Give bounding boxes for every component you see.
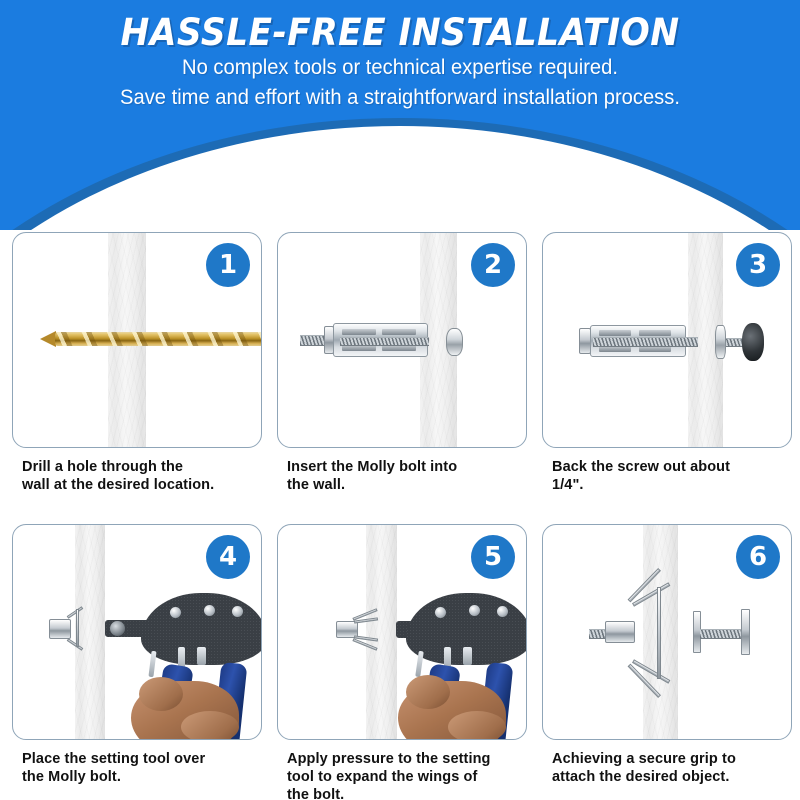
step-illustration-5: 5 [277,524,527,740]
page-title: HASSLE-FREE INSTALLATION [28,12,772,54]
molly-bolt-wing-edge [657,587,661,679]
step-illustration-3: 3 [542,232,792,448]
molly-bolt-slot [639,330,671,336]
step-caption-3: Back the screw out about 1/4". [542,458,794,494]
header-subtitle-line-2: Save time and effort with a straightforw… [16,86,784,110]
step-card-4: 4 [12,524,264,786]
step-card-3: 3 Back the screw out about 1/4". [542,232,794,494]
screw-head [741,609,750,655]
molly-bolt-thread-tail [300,335,326,346]
setting-tool-jaw [148,651,156,677]
setting-tool-pivot [110,621,125,636]
molly-bolt-collar [49,619,71,639]
step-illustration-4: 4 [12,524,262,740]
screw-washer [715,325,726,359]
steps-grid: 1 Drill a hole through the wall at the d… [0,228,800,800]
step-caption-5: Apply pressure to the setting tool to ex… [277,750,529,800]
step-caption-1: Drill a hole through the wall at the des… [12,458,264,494]
hand-finger [448,711,506,740]
molly-bolt-wing [76,609,79,647]
molly-bolt-slot [342,329,376,335]
setting-tool-rivet [469,605,480,616]
step-illustration-2: 2 [277,232,527,448]
step-card-2: 2 Insert the Molly bolt into the wall. [277,232,529,494]
hand-finger [181,711,239,740]
step-badge-3: 3 [736,243,780,287]
step-badge-4: 4 [206,535,250,579]
drill-bit-flute [55,332,262,346]
installation-guide-page: HASSLE-FREE INSTALLATION No complex tool… [0,0,800,800]
setting-tool-rivet [435,607,446,618]
screw-head [446,328,463,356]
setting-tool-rivet [497,606,508,617]
drill-bit-tip-icon [40,331,56,347]
molly-bolt-screw-shaft [593,337,698,347]
setting-tool-rivet [232,606,243,617]
setting-tool-rivet [170,607,181,618]
drywall-slab [75,524,105,740]
drywall-slab [366,524,397,740]
header-banner: HASSLE-FREE INSTALLATION No complex tool… [0,0,800,230]
step-caption-6: Achieving a secure grip to attach the de… [542,750,794,786]
setting-tool-rivet [204,605,215,616]
step-badge-2: 2 [471,243,515,287]
step-badge-6: 6 [736,535,780,579]
molly-bolt-collar [605,621,635,643]
header-subtitle-line-1: No complex tools or technical expertise … [16,56,784,80]
step-card-1: 1 Drill a hole through the wall at the d… [12,232,264,494]
step-illustration-1: 1 [12,232,262,448]
step-card-6: 6 Achieving a secure grip to attach the … [542,524,794,786]
hand-finger [406,675,450,709]
step-caption-4: Place the setting tool over the Molly bo… [12,750,264,786]
molly-bolt-slot [382,329,416,335]
molly-bolt-slot [599,330,631,336]
setting-tool-jaw [463,647,472,665]
screw-head [742,323,764,361]
step-badge-1: 1 [206,243,250,287]
screw-shaft [700,629,746,639]
molly-bolt-screw-shaft [340,337,429,346]
step-badge-5: 5 [471,535,515,579]
setting-tool-jaw [197,647,206,665]
step-card-5: 5 [277,524,529,800]
step-caption-2: Insert the Molly bolt into the wall. [277,458,529,494]
hand-finger [139,677,183,711]
step-illustration-6: 6 [542,524,792,740]
